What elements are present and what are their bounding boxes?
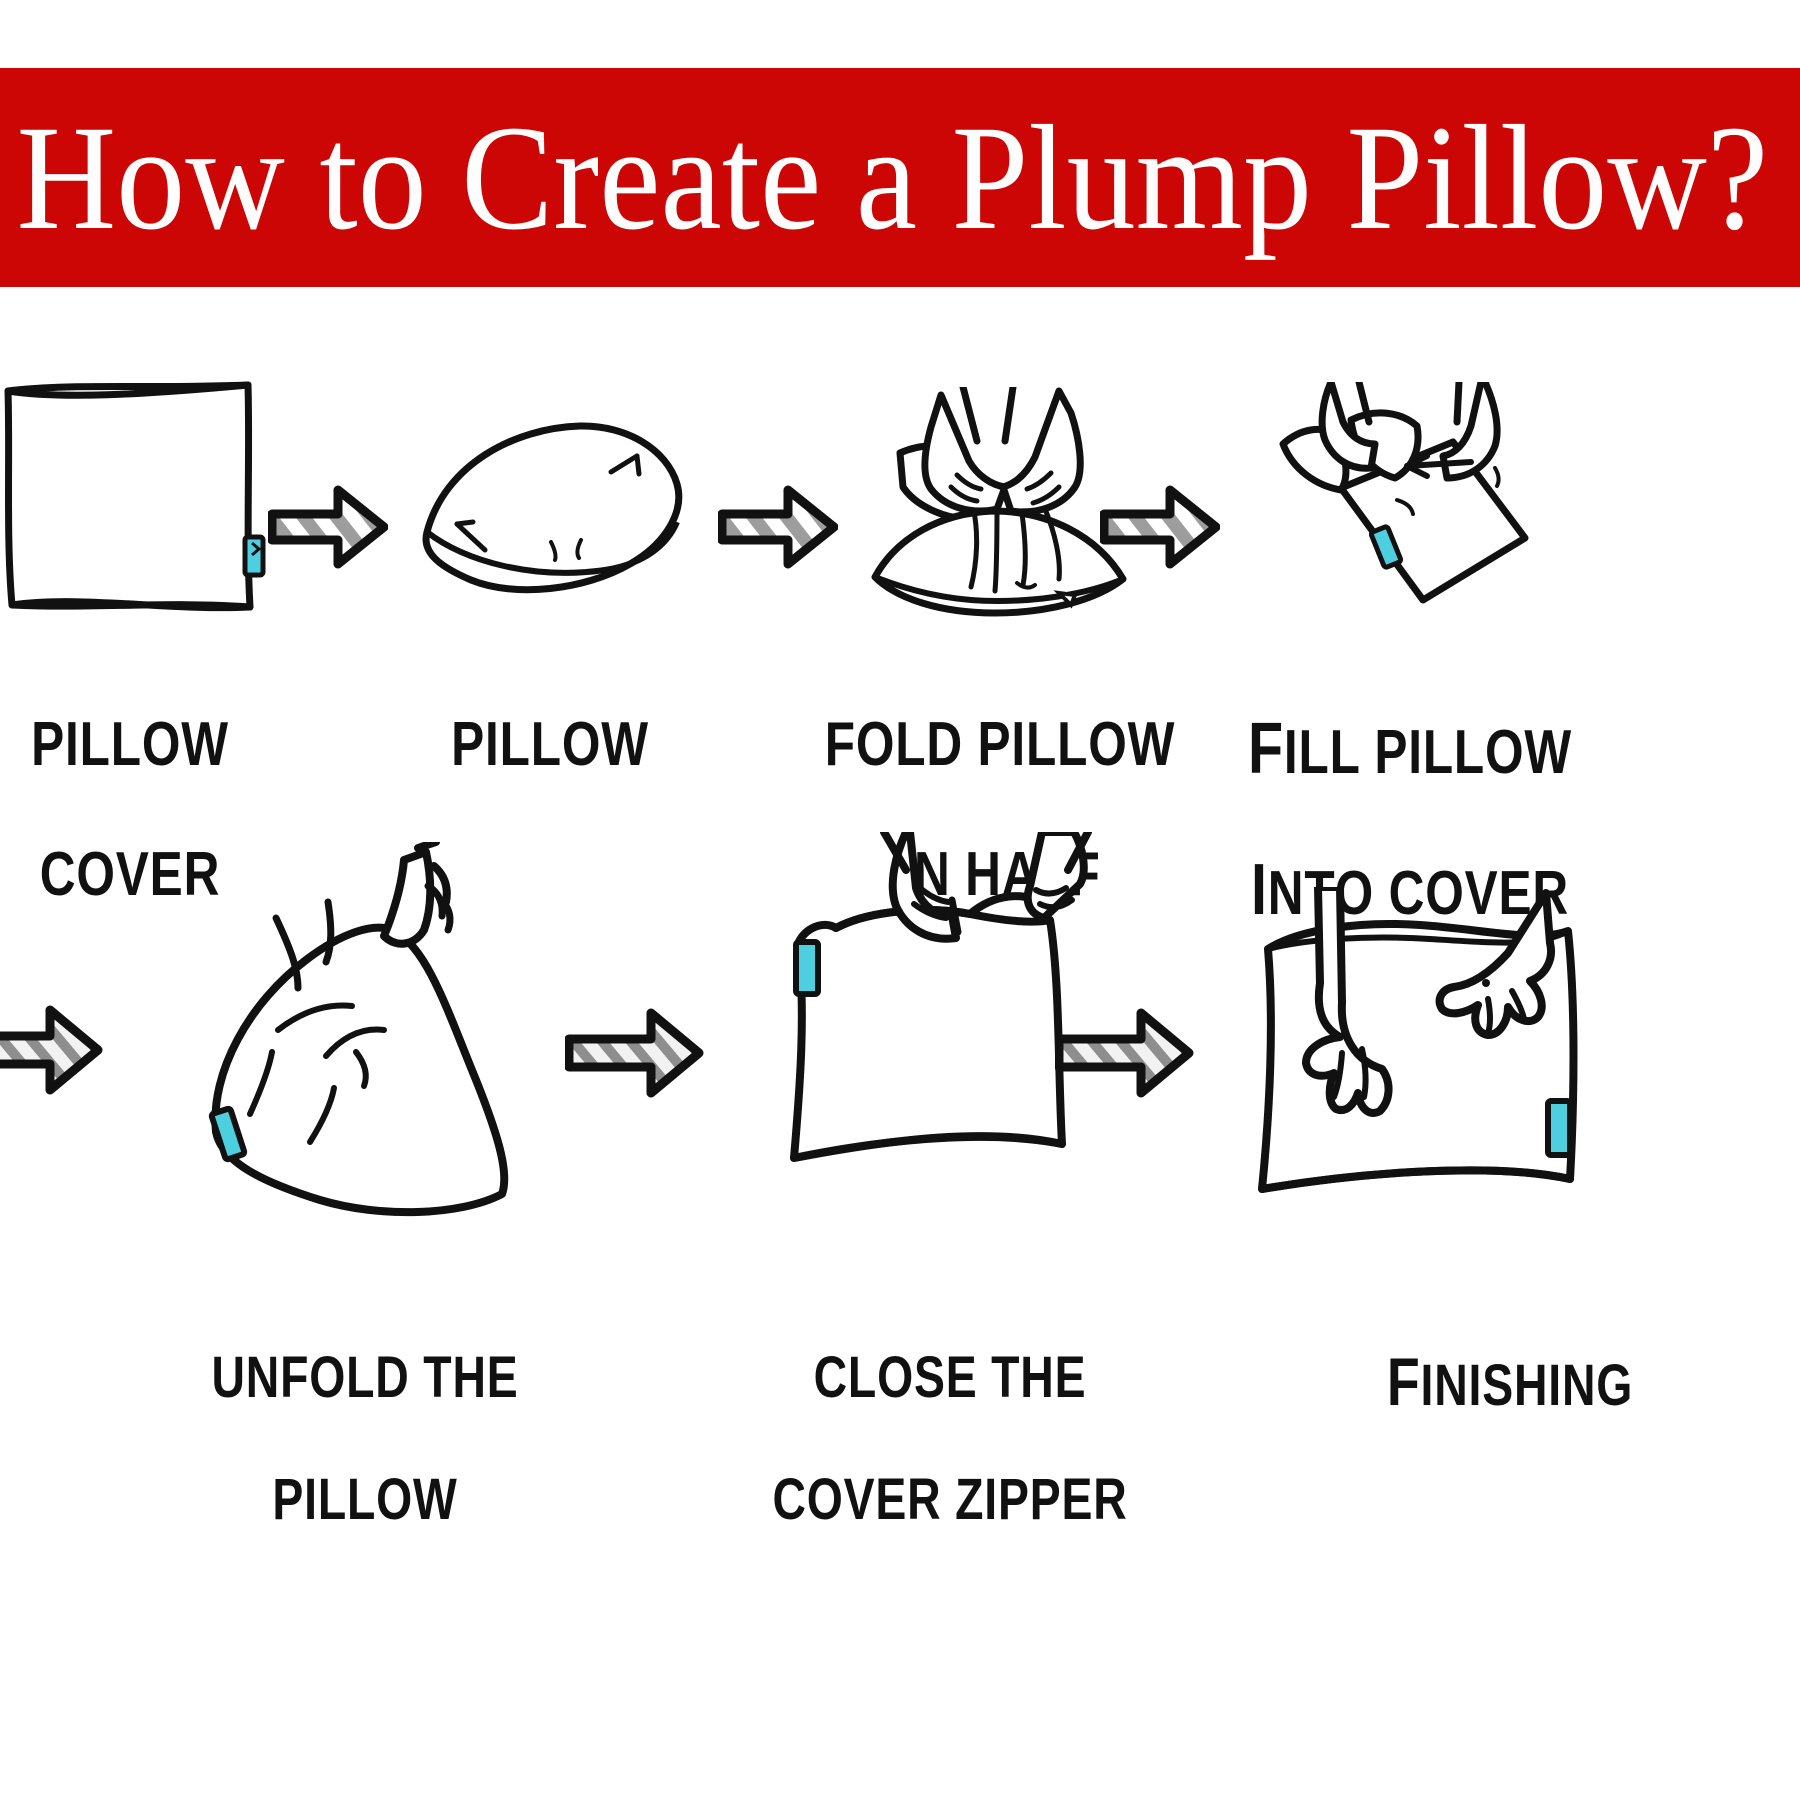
pillow-cover-square-icon [0,377,270,627]
step-finishing[interactable] [1250,887,1590,1247]
step-fill-pillow[interactable] [1255,382,1565,632]
zipper-tab-icon [245,537,263,575]
hands-filling-cover-icon [1255,382,1565,632]
step-pillow[interactable] [405,412,695,607]
hands-plumping-pillow-icon [1250,887,1590,1247]
hand-unfolding-pillow-icon [180,842,550,1242]
caption-finishing: FINISHING [1286,1287,1734,1479]
zipper-tab-icon [796,942,818,994]
next-step-arrow [565,1005,705,1100]
caption-line-1: CLOSE THE [726,1348,1174,1409]
caption-line-1: PILLOW [350,712,750,777]
caption-pillow: PILLOW [350,647,750,842]
zipper-tab-icon [1548,1101,1570,1155]
caption-unfold-pillow: UNFOLD THE PILLOW [157,1287,573,1591]
next-step-arrow [0,1002,104,1097]
caption-close-zipper: CLOSE THE COVER ZIPPER [726,1287,1174,1591]
caption-line-2: PILLOW [157,1470,573,1531]
pillow-insert-icon [405,412,695,607]
step-unfold-pillow[interactable] [180,842,550,1242]
title-banner: How to Create a Plump Pillow? [0,68,1800,287]
next-step-arrow [268,482,388,572]
next-step-arrow [718,482,838,572]
steps-container: PILLOW COVER PILLOW FOLD PILLOW IN HALF … [0,287,1800,1800]
next-step-arrow [1100,482,1220,572]
next-step-arrow [1055,1005,1195,1100]
caption-line-1: FINISHING [1286,1348,1734,1419]
caption-line-1: FOLD PILLOW [800,712,1200,777]
caption-line-2: COVER ZIPPER [726,1470,1174,1531]
caption-line-1: PILLOW [0,712,330,777]
caption-line-1: UNFOLD THE [157,1348,573,1409]
step-pillow-cover[interactable] [0,377,270,627]
page-title: How to Create a Plump Pillow? [0,103,1768,253]
caption-line-1: FILL PILLOW [1210,712,1610,788]
